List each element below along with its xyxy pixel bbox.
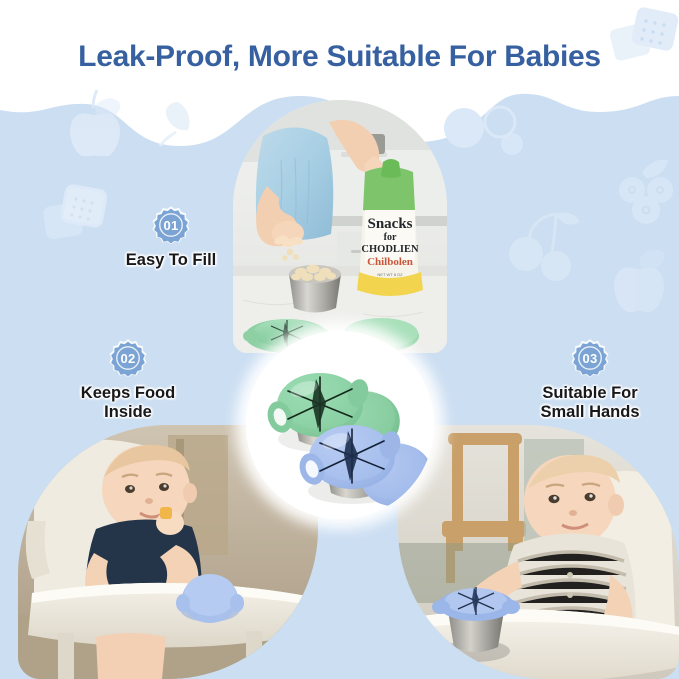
- svg-text:NET WT 8 OZ: NET WT 8 OZ: [377, 272, 403, 277]
- badge-number: 01: [152, 206, 190, 244]
- badge-02: 02: [109, 339, 147, 377]
- feature-label: Suitable For Small Hands: [505, 384, 675, 423]
- svg-text:for: for: [384, 232, 397, 243]
- badge-03: 03: [571, 339, 609, 377]
- page-title: Leak-Proof, More Suitable For Babies: [0, 40, 679, 74]
- badge-01: 01: [152, 206, 190, 244]
- feature-keeps-food-inside: 02 Keeps Food Inside: [48, 339, 208, 423]
- feature-label: Keeps Food Inside: [48, 384, 208, 423]
- badge-number: 02: [109, 339, 147, 377]
- infographic-canvas: Leak-Proof, More Suitable For Babies: [0, 0, 679, 679]
- feature-easy-to-fill: 01 Easy To Fill: [96, 206, 246, 270]
- filling-snack-cup-photo: Snacks for CHODLIEN Chilbolen NET WT 8 O…: [233, 100, 447, 353]
- badge-number: 03: [571, 339, 609, 377]
- feature-suitable-for-small-hands: 03 Suitable For Small Hands: [505, 339, 675, 423]
- product-hero-circle: [246, 331, 434, 519]
- svg-text:CHODLIEN: CHODLIEN: [361, 244, 419, 255]
- svg-text:Snacks: Snacks: [367, 216, 412, 232]
- feature-label: Easy To Fill: [96, 251, 246, 270]
- svg-text:Chilbolen: Chilbolen: [367, 256, 413, 268]
